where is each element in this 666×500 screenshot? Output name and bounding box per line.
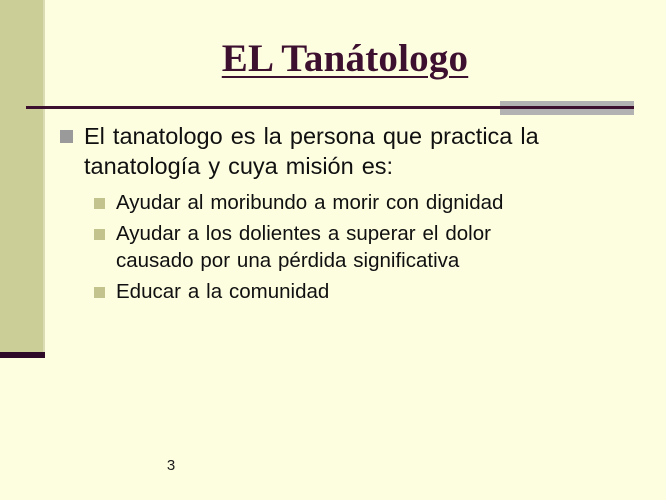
slide-canvas: EL Tanátologo El tanatologo es la person…: [0, 0, 666, 500]
header-divider-rule: [26, 106, 634, 109]
sub-bullet-list: Ayudar al moribundo a morir con dignidad…: [94, 189, 650, 305]
list-item: Ayudar al moribundo a morir con dignidad: [94, 189, 650, 216]
square-bullet-icon: [94, 287, 105, 298]
bullet-text: Educar a la comunidad: [116, 278, 329, 305]
list-item: Ayudar a los dolientes a superar el dolo…: [94, 220, 650, 274]
bullet-text: Ayudar a los dolientes a superar el dolo…: [116, 220, 566, 274]
page-title: EL Tanátologo: [218, 39, 472, 80]
left-decorative-band: [0, 0, 45, 353]
left-band-footer-bar: [0, 352, 45, 358]
body-content: El tanatologo es la persona que practica…: [60, 121, 650, 309]
list-item: Educar a la comunidad: [94, 278, 650, 305]
square-bullet-icon: [60, 130, 73, 143]
square-bullet-icon: [94, 198, 105, 209]
bullet-item-primary: El tanatologo es la persona que practica…: [60, 121, 650, 181]
bullet-text: Ayudar al moribundo a morir con dignidad: [116, 189, 503, 216]
title-area: EL Tanátologo: [45, 28, 645, 90]
bullet-text: El tanatologo es la persona que practica…: [84, 121, 584, 181]
square-bullet-icon: [94, 229, 105, 240]
page-number-value: 3: [167, 457, 175, 474]
page-number: 3: [0, 457, 666, 474]
